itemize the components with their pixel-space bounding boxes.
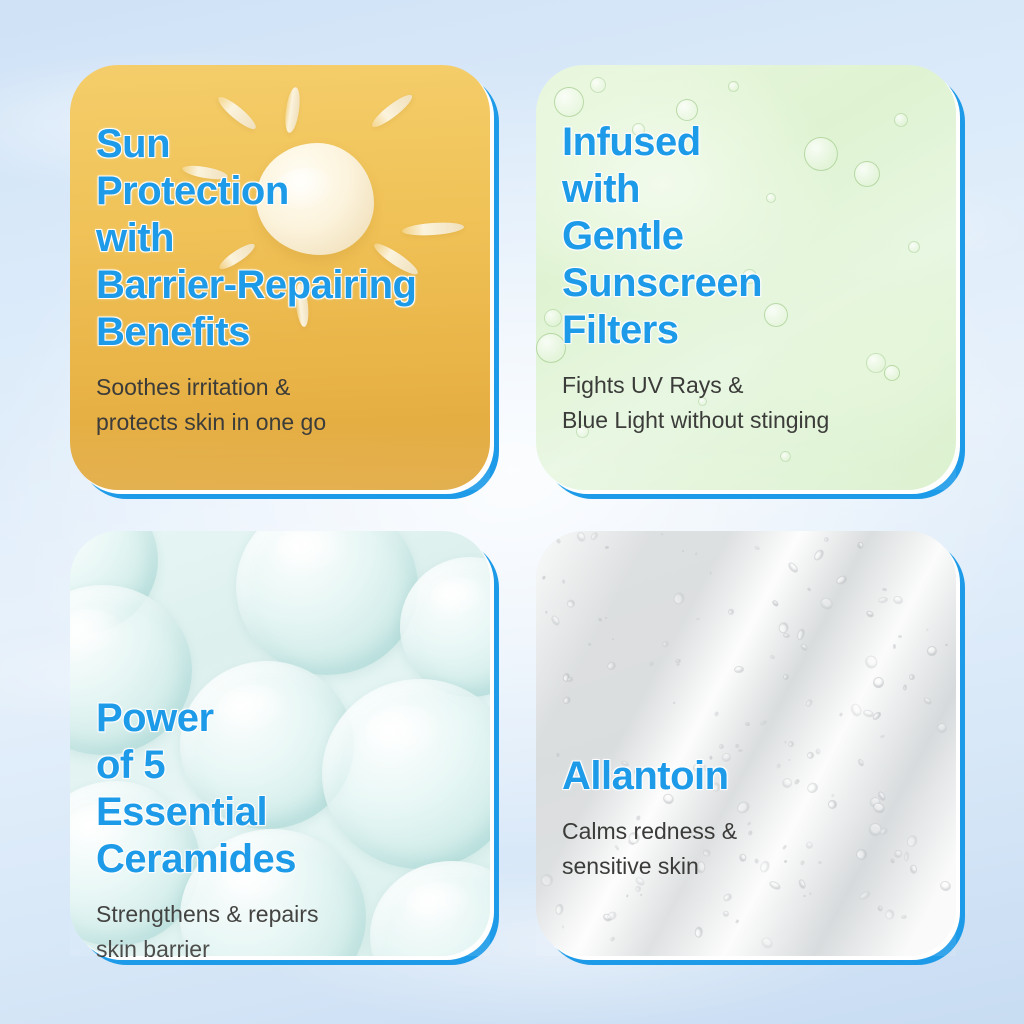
feature-card-grid: Sun Protection with Barrier-Repairing Be… — [70, 65, 956, 956]
card-subtext: Calms redness & sensitive skin — [562, 814, 930, 884]
card-content: Sun Protection with Barrier-Repairing Be… — [70, 65, 490, 490]
card-content: Power of 5 Essential Ceramides Strengthe… — [70, 531, 490, 956]
feature-card-five-ceramides[interactable]: Power of 5 Essential Ceramides Strengthe… — [70, 531, 490, 956]
feature-card-sun-protection[interactable]: Sun Protection with Barrier-Repairing Be… — [70, 65, 490, 490]
feature-card-gentle-filters[interactable]: Infused with Gentle Sunscreen Filters Fi… — [536, 65, 956, 490]
card-headline: Infused with Gentle Sunscreen Filters — [562, 119, 930, 354]
infographic-poster: Sun Protection with Barrier-Repairing Be… — [0, 0, 1024, 1024]
card-content: Infused with Gentle Sunscreen Filters Fi… — [536, 65, 956, 490]
card-headline: Sun Protection with Barrier-Repairing Be… — [96, 121, 464, 356]
card-content: Allantoin Calms redness & sensitive skin — [536, 531, 956, 956]
card-headline: Power of 5 Essential Ceramides — [96, 695, 464, 883]
card-subtext: Fights UV Rays & Blue Light without stin… — [562, 368, 930, 438]
feature-card-allantoin[interactable]: Allantoin Calms redness & sensitive skin — [536, 531, 956, 956]
card-subtext: Soothes irritation & protects skin in on… — [96, 370, 464, 440]
card-subtext: Strengthens & repairs skin barrier — [96, 897, 464, 967]
card-headline: Allantoin — [562, 753, 930, 800]
